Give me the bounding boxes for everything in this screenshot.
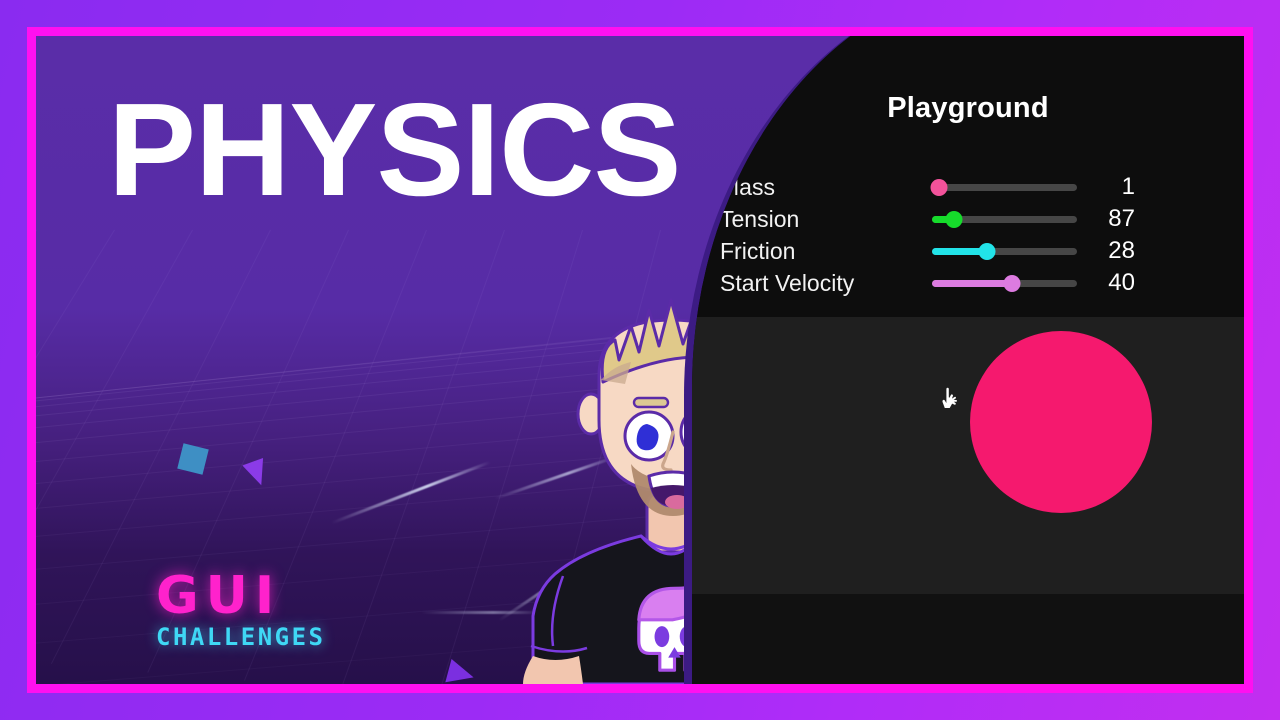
control-row-friction[interactable]: Friction 28: [720, 235, 1216, 267]
screenshot-root: PHYSICS GUI CHALLENGES: [0, 0, 1280, 720]
pointer-hand-cursor: [941, 387, 963, 411]
slider-thumb[interactable]: [945, 211, 962, 228]
slider-thumb[interactable]: [931, 179, 948, 196]
control-value-tension: 87: [1077, 205, 1135, 233]
slider-track: [932, 184, 1077, 191]
app-panel: Playground Mass 1: [692, 36, 1244, 684]
slider-tension[interactable]: [932, 210, 1077, 228]
physics-ball[interactable]: [970, 331, 1152, 513]
control-label-start-velocity: Start Velocity: [720, 270, 932, 297]
logo-line-challenges: CHALLENGES: [156, 623, 326, 651]
slide: PHYSICS GUI CHALLENGES: [36, 36, 1244, 684]
control-row-tension[interactable]: Tension 87: [720, 203, 1216, 235]
slider-mass[interactable]: [932, 178, 1077, 196]
control-row-start-velocity[interactable]: Start Velocity 40: [720, 267, 1216, 299]
page-title-text: PHYSICS: [108, 76, 681, 223]
slider-fill: [932, 280, 1012, 287]
slider-friction[interactable]: [932, 242, 1077, 260]
control-label-tension: Tension: [720, 206, 932, 233]
slide-frame: PHYSICS GUI CHALLENGES: [27, 27, 1253, 693]
panel-title: Playground: [720, 92, 1216, 125]
gui-challenges-logo: GUI CHALLENGES: [156, 572, 326, 651]
app-panel-wrapper: Playground Mass 1: [684, 36, 1244, 684]
physics-stage[interactable]: [692, 317, 1244, 594]
slider-thumb[interactable]: [979, 243, 996, 260]
controls-panel: Playground Mass 1: [692, 36, 1244, 317]
page-title: PHYSICS: [108, 84, 681, 216]
logo-line-gui: GUI: [156, 572, 326, 621]
avatar-arm: [523, 656, 583, 684]
avatar-eyebrow: [634, 398, 668, 407]
control-value-friction: 28: [1077, 237, 1135, 265]
control-row-mass[interactable]: Mass 1: [720, 171, 1216, 203]
slider-thumb[interactable]: [1003, 275, 1020, 292]
control-value-mass: 1: [1077, 173, 1135, 201]
control-label-mass: Mass: [720, 174, 932, 201]
control-value-start-velocity: 40: [1077, 269, 1135, 297]
panel-footer: [692, 594, 1244, 684]
control-label-friction: Friction: [720, 238, 932, 265]
slider-start-velocity[interactable]: [932, 274, 1077, 292]
